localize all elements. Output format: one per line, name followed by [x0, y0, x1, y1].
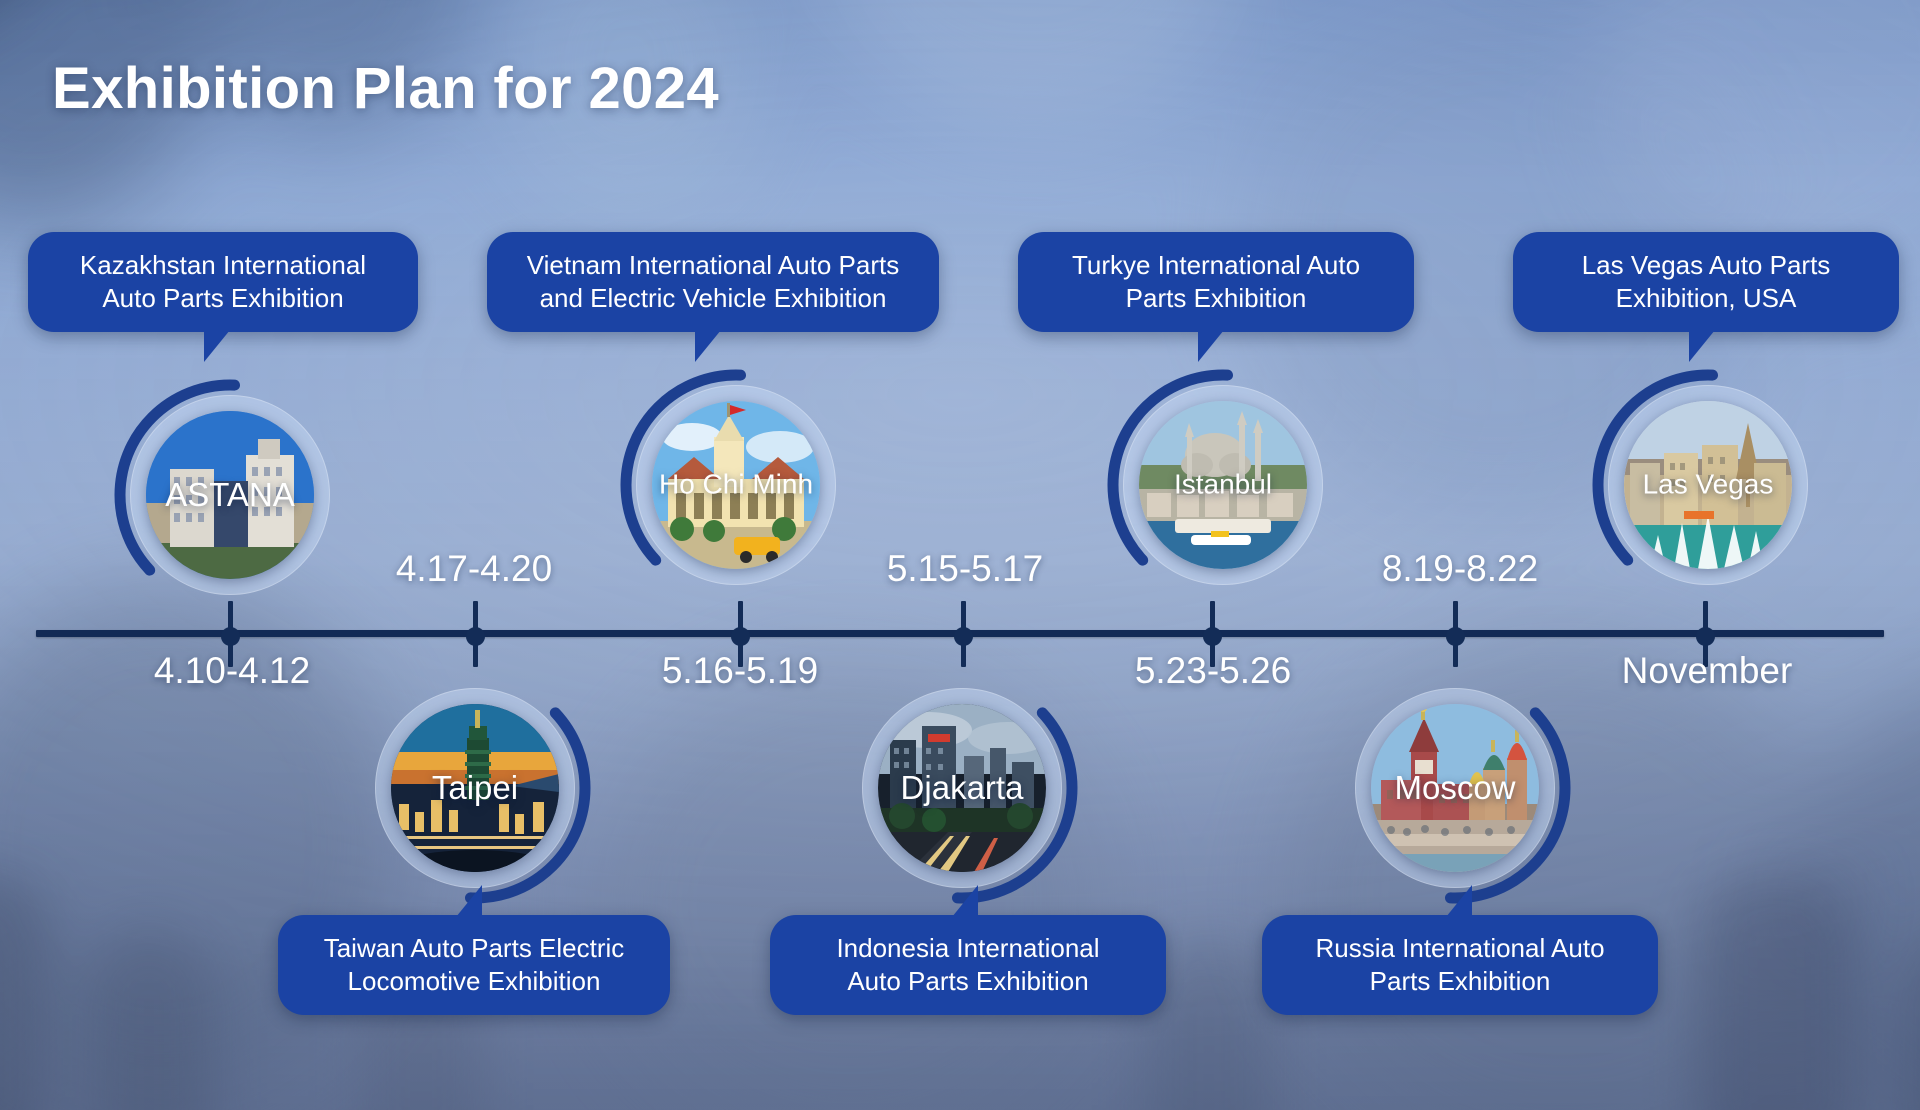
medallion-city-label: Istanbul [1123, 470, 1323, 498]
callout-line-2: Parts Exhibition [1284, 965, 1636, 998]
callout-tail-icon [1689, 330, 1715, 362]
timeline-node-dot-icon [1446, 627, 1465, 646]
medallion-istanbul[interactable]: Istanbul [1123, 385, 1323, 585]
callout-line-1: Las Vegas Auto Parts [1535, 249, 1877, 282]
callout-line-2: and Electric Vehicle Exhibition [509, 282, 917, 315]
callout-djakarta[interactable]: Indonesia International Auto Parts Exhib… [770, 915, 1166, 1015]
date-label-astana: 4.10-4.12 [154, 650, 310, 692]
callout-tail-icon [456, 885, 482, 917]
callout-taipei[interactable]: Taiwan Auto Parts Electric Locomotive Ex… [278, 915, 670, 1015]
callout-moscow[interactable]: Russia International Auto Parts Exhibiti… [1262, 915, 1658, 1015]
callout-line-2: Exhibition, USA [1535, 282, 1877, 315]
callout-tail-icon [952, 885, 978, 917]
medallion-djakarta[interactable]: Djakarta [862, 688, 1062, 888]
date-label-moscow: 8.19-8.22 [1382, 548, 1538, 590]
timeline-node-dot-icon [1696, 627, 1715, 646]
date-label-taipei: 4.17-4.20 [396, 548, 552, 590]
medallion-city-label: Las Vegas [1608, 470, 1808, 498]
date-label-djakarta: 5.15-5.17 [887, 548, 1043, 590]
medallion-moscow[interactable]: Moscow [1355, 688, 1555, 888]
timeline-node-dot-icon [954, 627, 973, 646]
medallion-city-label: Djakarta [862, 771, 1062, 804]
date-label-ho-chi-minh: 5.16-5.19 [662, 650, 818, 692]
medallion-city-label: Ho Chi Minh [636, 470, 836, 498]
callout-las-vegas[interactable]: Las Vegas Auto Parts Exhibition, USA [1513, 232, 1899, 332]
date-label-istanbul: 5.23-5.26 [1135, 650, 1291, 692]
timeline-node-dot-icon [731, 627, 750, 646]
callout-tail-icon [1198, 330, 1224, 362]
medallion-taipei[interactable]: Taipei [375, 688, 575, 888]
callout-line-1: Russia International Auto [1284, 932, 1636, 965]
medallion-city-label: Moscow [1355, 771, 1555, 804]
timeline-node-dot-icon [466, 627, 485, 646]
callout-line-2: Auto Parts Exhibition [50, 282, 396, 315]
callout-astana[interactable]: Kazakhstan International Auto Parts Exhi… [28, 232, 418, 332]
medallion-astana[interactable]: ASTANA [130, 395, 330, 595]
callout-line-1: Turkye International Auto [1040, 249, 1392, 282]
medallion-city-label: ASTANA [130, 478, 330, 511]
callout-istanbul[interactable]: Turkye International Auto Parts Exhibiti… [1018, 232, 1414, 332]
timeline-node-dot-icon [1203, 627, 1222, 646]
page-title: Exhibition Plan for 2024 [52, 55, 719, 122]
medallion-las-vegas[interactable]: Las Vegas [1608, 385, 1808, 585]
callout-line-1: Indonesia International [792, 932, 1144, 965]
callout-line-1: Taiwan Auto Parts Electric [300, 932, 648, 965]
callout-tail-icon [1446, 885, 1472, 917]
medallion-city-label: Taipei [375, 771, 575, 804]
callout-line-2: Parts Exhibition [1040, 282, 1392, 315]
callout-line-1: Vietnam International Auto Parts [509, 249, 917, 282]
callout-tail-icon [695, 330, 721, 362]
callout-line-2: Locomotive Exhibition [300, 965, 648, 998]
date-label-las-vegas: November [1622, 650, 1793, 692]
callout-ho-chi-minh[interactable]: Vietnam International Auto Parts and Ele… [487, 232, 939, 332]
timeline-node-dot-icon [221, 627, 240, 646]
callout-line-2: Auto Parts Exhibition [792, 965, 1144, 998]
callout-tail-icon [204, 330, 230, 362]
callout-line-1: Kazakhstan International [50, 249, 396, 282]
medallion-ho-chi-minh[interactable]: Ho Chi Minh [636, 385, 836, 585]
